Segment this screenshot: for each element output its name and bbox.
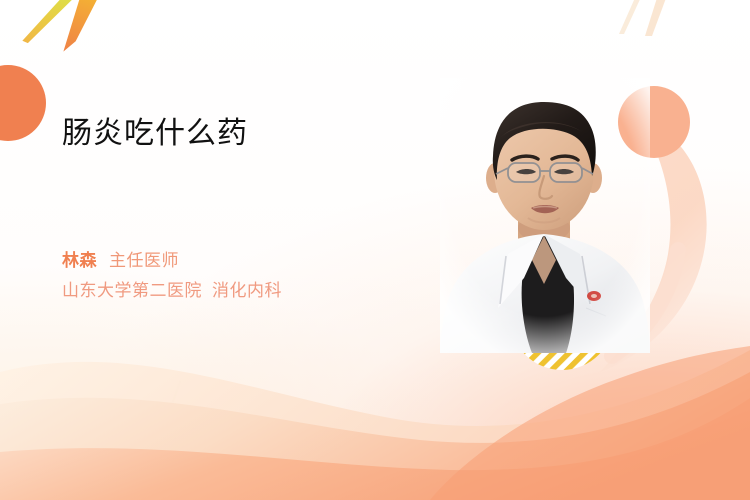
doctor-portrait bbox=[440, 78, 650, 353]
doctor-hospital: 山东大学第二医院 bbox=[62, 281, 202, 300]
title-block: 肠炎吃什么药 bbox=[62, 112, 392, 156]
doctor-portrait-illustration bbox=[440, 78, 650, 353]
diagonal-thick-stripe-icon bbox=[60, 0, 105, 57]
top-left-stripe-group bbox=[22, 0, 105, 57]
doctor-name: 林森 bbox=[62, 251, 97, 270]
wave-accent-right bbox=[430, 346, 750, 500]
page-title: 肠炎吃什么药 bbox=[62, 112, 392, 156]
orange-circle-icon bbox=[0, 65, 46, 141]
doctor-rank: 主任医师 bbox=[109, 251, 179, 270]
doctor-department: 消化内科 bbox=[212, 281, 282, 300]
medical-video-cover-card: 肠炎吃什么药 林森主任医师 山东大学第二医院消化内科 bbox=[0, 0, 750, 500]
portrait-vignette bbox=[440, 78, 650, 353]
top-right-stripe-group bbox=[619, 0, 672, 36]
doctor-info-block: 林森主任医师 山东大学第二医院消化内科 bbox=[62, 246, 422, 306]
doctor-name-line: 林森主任医师 bbox=[62, 246, 422, 276]
diagonal-thin-stripe-icon bbox=[619, 0, 648, 34]
diagonal-thick-stripe-icon bbox=[645, 0, 672, 36]
doctor-affiliation-line: 山东大学第二医院消化内科 bbox=[62, 276, 422, 306]
